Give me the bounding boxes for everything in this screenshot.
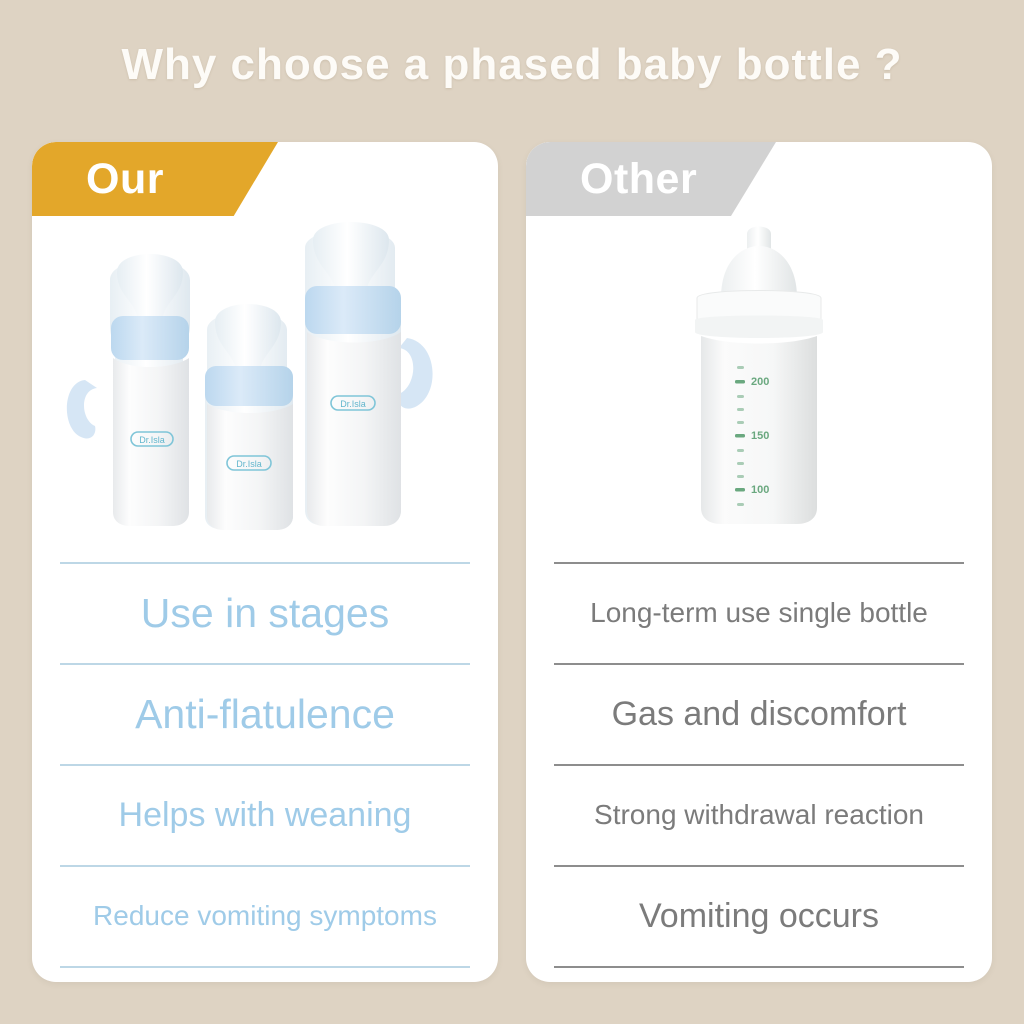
page-title: Why choose a phased baby bottle ? [0, 40, 1024, 90]
our-product-image: Dr.Isla Dr.Isla [32, 220, 498, 550]
bottle-right: Dr.Isla [305, 222, 433, 526]
banner-our-label: Our [86, 158, 164, 201]
feature-item: Anti-flatulence [60, 665, 470, 764]
other-product-image: 200 150 100 [526, 220, 992, 550]
feature-item: Use in stages [60, 564, 470, 663]
brand-label-center: Dr.Isla [236, 459, 262, 469]
other-feature-list: Long-term use single bottle Gas and disc… [554, 562, 964, 968]
feature-item: Helps with weaning [60, 766, 470, 865]
card-other: Other [526, 142, 992, 982]
card-our: Our [32, 142, 498, 982]
feature-item: Long-term use single bottle [554, 564, 964, 663]
banner-other: Other [526, 142, 776, 216]
feature-item: Strong withdrawal reaction [554, 766, 964, 865]
brand-label-left: Dr.Isla [139, 435, 165, 445]
feature-item: Vomiting occurs [554, 867, 964, 966]
brand-label-right: Dr.Isla [340, 399, 366, 409]
scale-label-200: 200 [751, 376, 769, 388]
divider [60, 966, 470, 968]
feature-item: Gas and discomfort [554, 665, 964, 764]
divider [554, 966, 964, 968]
bottle-center: Dr.Isla [205, 304, 293, 530]
scale-label-150: 150 [751, 430, 769, 442]
bottle-other: 200 150 100 [695, 227, 823, 525]
our-feature-list: Use in stages Anti-flatulence Helps with… [60, 562, 470, 968]
scale-label-100: 100 [751, 484, 769, 496]
comparison-cards: Our [32, 142, 992, 982]
bottle-left: Dr.Isla [67, 254, 190, 526]
banner-our: Our [32, 142, 278, 216]
feature-item: Reduce vomiting symptoms [60, 867, 470, 966]
banner-other-label: Other [580, 158, 697, 201]
